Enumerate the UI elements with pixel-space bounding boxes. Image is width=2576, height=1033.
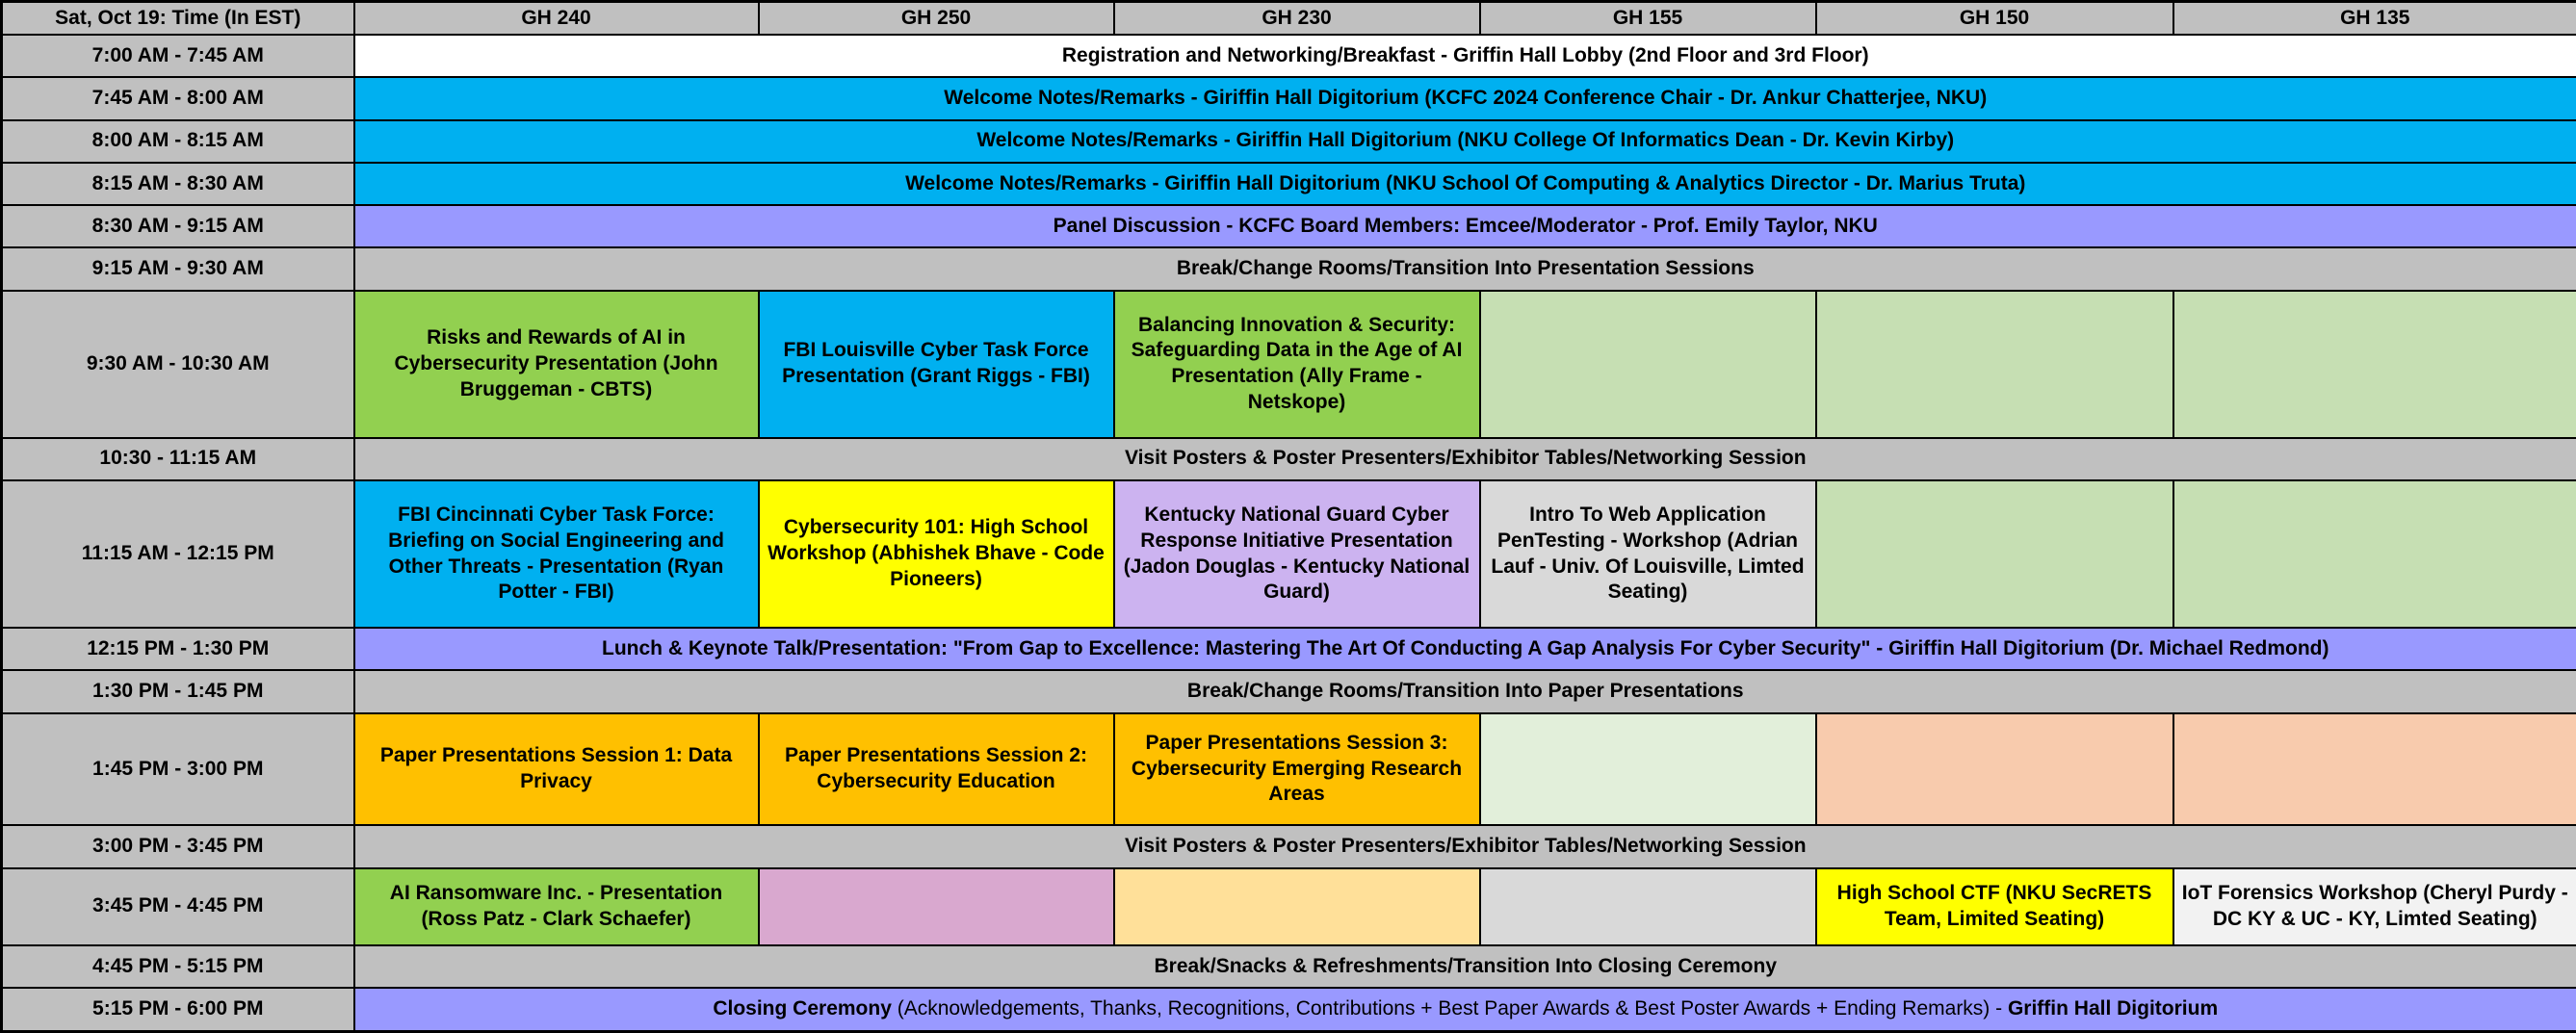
empty-session-cell — [1480, 291, 1816, 438]
session-text-part: (Acknowledgements, Thanks, Recognitions,… — [892, 997, 2008, 1020]
time-slot-label: 3:45 PM - 4:45 PM — [2, 868, 354, 946]
header-row: Sat, Oct 19: Time (In EST)GH 240GH 250GH… — [2, 2, 2576, 36]
session-cell: High School CTF (NKU SecRETS Team, Limit… — [1816, 868, 2173, 946]
time-slot-label: 3:00 PM - 3:45 PM — [2, 825, 354, 867]
schedule-row: 8:00 AM - 8:15 AMWelcome Notes/Remarks -… — [2, 120, 2576, 163]
schedule-row: 9:30 AM - 10:30 AMRisks and Rewards of A… — [2, 291, 2576, 438]
empty-session-cell — [1816, 713, 2173, 826]
full-width-session: Welcome Notes/Remarks - Giriffin Hall Di… — [354, 77, 2576, 119]
time-slot-label: 1:45 PM - 3:00 PM — [2, 713, 354, 826]
full-width-session: Visit Posters & Poster Presenters/Exhibi… — [354, 438, 2576, 480]
empty-session-cell — [2173, 713, 2576, 826]
column-header-gh155: GH 155 — [1480, 2, 1816, 36]
schedule-row: 7:00 AM - 7:45 AMRegistration and Networ… — [2, 35, 2576, 77]
schedule-row: 10:30 - 11:15 AMVisit Posters & Poster P… — [2, 438, 2576, 480]
schedule-row: 5:15 PM - 6:00 PMClosing Ceremony (Ackno… — [2, 988, 2576, 1031]
table-header: Sat, Oct 19: Time (In EST)GH 240GH 250GH… — [2, 2, 2576, 36]
column-header-gh150: GH 150 — [1816, 2, 2173, 36]
column-header-gh230: GH 230 — [1114, 2, 1480, 36]
session-cell: FBI Louisville Cyber Task Force Presenta… — [759, 291, 1114, 438]
time-slot-label: 8:15 AM - 8:30 AM — [2, 163, 354, 205]
session-cell: Intro To Web Application PenTesting - Wo… — [1480, 480, 1816, 628]
schedule-row: 9:15 AM - 9:30 AMBreak/Change Rooms/Tran… — [2, 247, 2576, 290]
conference-schedule-table: Sat, Oct 19: Time (In EST)GH 240GH 250GH… — [0, 0, 2576, 1033]
time-slot-label: 1:30 PM - 1:45 PM — [2, 670, 354, 712]
time-slot-label: 9:15 AM - 9:30 AM — [2, 247, 354, 290]
full-width-session: Break/Change Rooms/Transition Into Prese… — [354, 247, 2576, 290]
schedule-row: 1:45 PM - 3:00 PMPaper Presentations Ses… — [2, 713, 2576, 826]
table-body: 7:00 AM - 7:45 AMRegistration and Networ… — [2, 35, 2576, 1032]
column-header-gh240: GH 240 — [354, 2, 759, 36]
time-slot-label: 8:00 AM - 8:15 AM — [2, 120, 354, 163]
full-width-session: Panel Discussion - KCFC Board Members: E… — [354, 205, 2576, 247]
full-width-session: Closing Ceremony (Acknowledgements, Than… — [354, 988, 2576, 1031]
empty-session-cell — [2173, 291, 2576, 438]
time-slot-label: 5:15 PM - 6:00 PM — [2, 988, 354, 1031]
session-cell: Paper Presentations Session 2: Cybersecu… — [759, 713, 1114, 826]
full-width-session: Visit Posters & Poster Presenters/Exhibi… — [354, 825, 2576, 867]
time-slot-label: 7:00 AM - 7:45 AM — [2, 35, 354, 77]
schedule-row: 3:00 PM - 3:45 PMVisit Posters & Poster … — [2, 825, 2576, 867]
schedule-row: 3:45 PM - 4:45 PMAI Ransomware Inc. - Pr… — [2, 868, 2576, 946]
full-width-session: Break/Change Rooms/Transition Into Paper… — [354, 670, 2576, 712]
session-cell: IoT Forensics Workshop (Cheryl Purdy - D… — [2173, 868, 2576, 946]
column-header-time: Sat, Oct 19: Time (In EST) — [2, 2, 354, 36]
schedule-row: 11:15 AM - 12:15 PMFBI Cincinnati Cyber … — [2, 480, 2576, 628]
time-slot-label: 11:15 AM - 12:15 PM — [2, 480, 354, 628]
time-slot-label: 7:45 AM - 8:00 AM — [2, 77, 354, 119]
schedule-row: 12:15 PM - 1:30 PMLunch & Keynote Talk/P… — [2, 628, 2576, 670]
full-width-session: Welcome Notes/Remarks - Giriffin Hall Di… — [354, 120, 2576, 163]
empty-session-cell — [1480, 713, 1816, 826]
schedule-row: 8:30 AM - 9:15 AMPanel Discussion - KCFC… — [2, 205, 2576, 247]
session-cell: Paper Presentations Session 3: Cybersecu… — [1114, 713, 1480, 826]
session-cell: Risks and Rewards of AI in Cybersecurity… — [354, 291, 759, 438]
full-width-session: Welcome Notes/Remarks - Giriffin Hall Di… — [354, 163, 2576, 205]
schedule-row: 8:15 AM - 8:30 AMWelcome Notes/Remarks -… — [2, 163, 2576, 205]
empty-session-cell — [1816, 291, 2173, 438]
full-width-session: Lunch & Keynote Talk/Presentation: "From… — [354, 628, 2576, 670]
time-slot-label: 8:30 AM - 9:15 AM — [2, 205, 354, 247]
empty-session-cell — [1816, 480, 2173, 628]
time-slot-label: 12:15 PM - 1:30 PM — [2, 628, 354, 670]
full-width-session: Break/Snacks & Refreshments/Transition I… — [354, 945, 2576, 988]
session-text-part: Griffin Hall Digitorium — [2008, 997, 2218, 1020]
session-cell: Paper Presentations Session 1: Data Priv… — [354, 713, 759, 826]
session-cell: Cybersecurity 101: High School Workshop … — [759, 480, 1114, 628]
schedule-row: 4:45 PM - 5:15 PMBreak/Snacks & Refreshm… — [2, 945, 2576, 988]
empty-session-cell — [1114, 868, 1480, 946]
session-cell: Kentucky National Guard Cyber Response I… — [1114, 480, 1480, 628]
schedule-row: 1:30 PM - 1:45 PMBreak/Change Rooms/Tran… — [2, 670, 2576, 712]
empty-session-cell — [759, 868, 1114, 946]
session-cell: Balancing Innovation & Security: Safegua… — [1114, 291, 1480, 438]
session-text-part: Closing Ceremony — [713, 997, 892, 1020]
time-slot-label: 4:45 PM - 5:15 PM — [2, 945, 354, 988]
schedule-row: 7:45 AM - 8:00 AMWelcome Notes/Remarks -… — [2, 77, 2576, 119]
column-header-gh250: GH 250 — [759, 2, 1114, 36]
empty-session-cell — [1480, 868, 1816, 946]
session-cell: FBI Cincinnati Cyber Task Force: Briefin… — [354, 480, 759, 628]
time-slot-label: 9:30 AM - 10:30 AM — [2, 291, 354, 438]
session-cell: AI Ransomware Inc. - Presentation (Ross … — [354, 868, 759, 946]
full-width-session: Registration and Networking/Breakfast - … — [354, 35, 2576, 77]
column-header-gh135: GH 135 — [2173, 2, 2576, 36]
time-slot-label: 10:30 - 11:15 AM — [2, 438, 354, 480]
empty-session-cell — [2173, 480, 2576, 628]
